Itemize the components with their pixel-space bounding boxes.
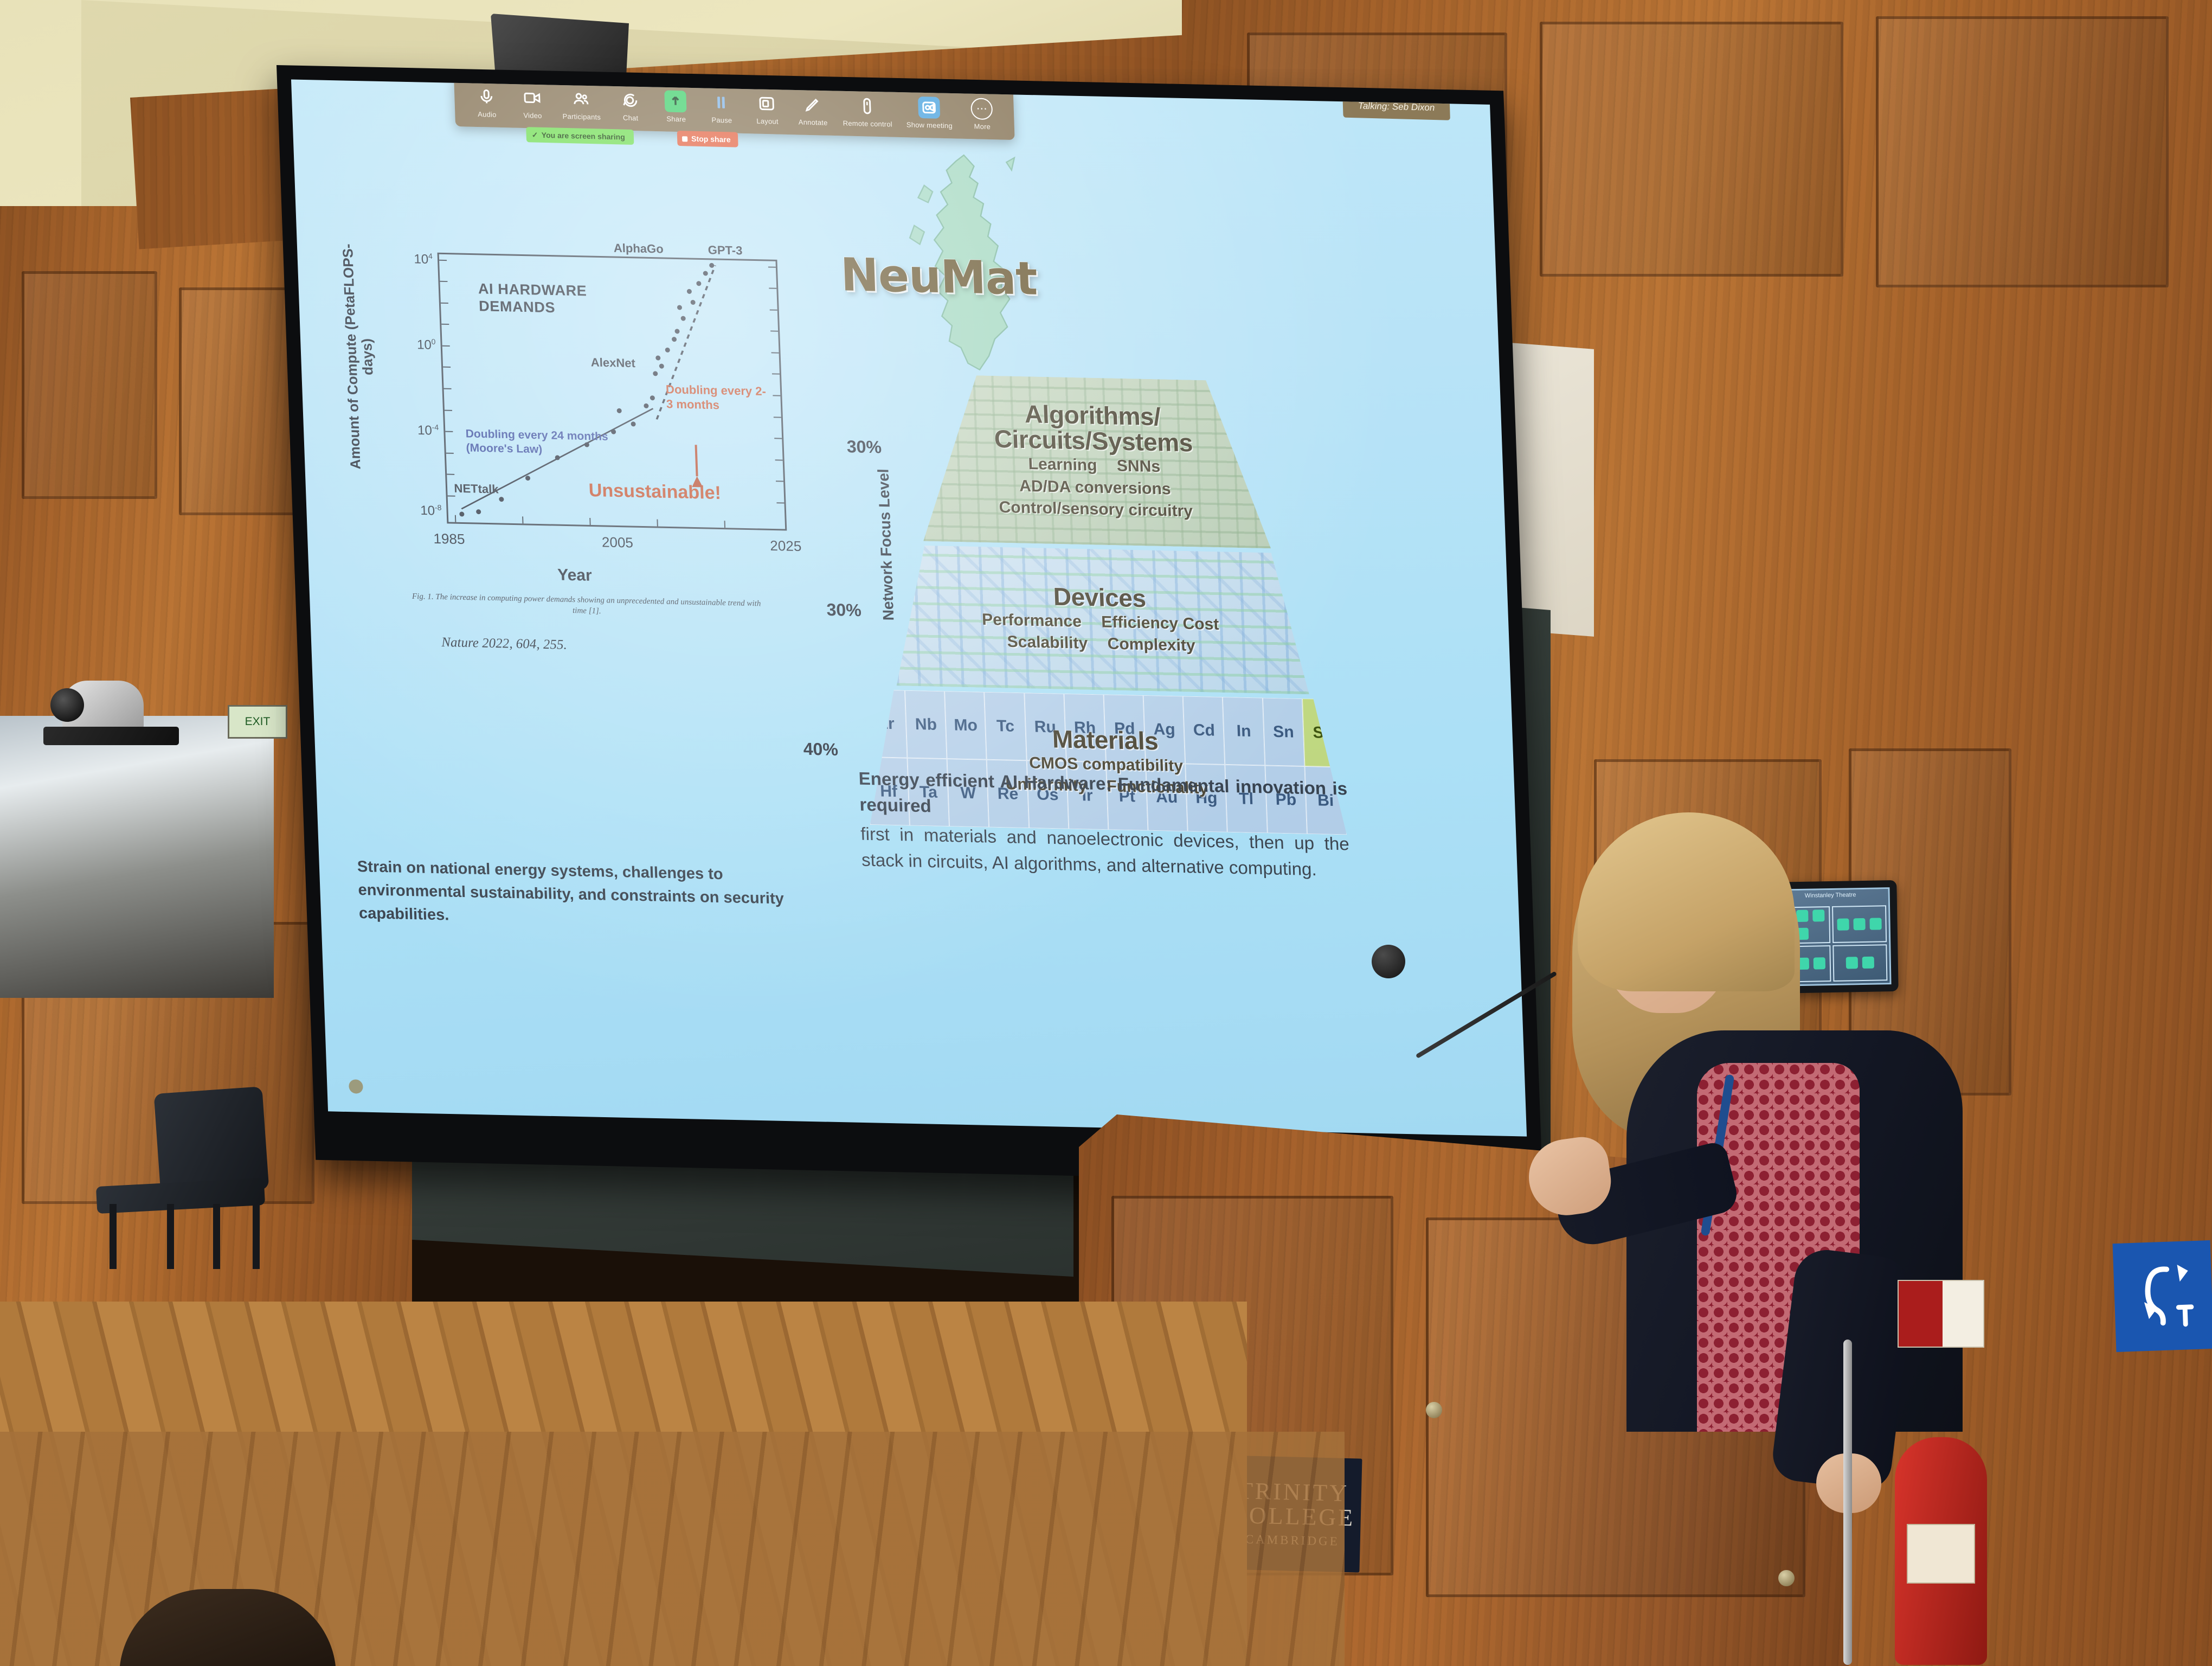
slide-corner-marker	[349, 1079, 363, 1094]
pyramid-percent-materials: 40%	[803, 739, 838, 760]
toolbar-show-meeting-button[interactable]: Show meeting	[905, 96, 953, 130]
doorway-left	[0, 716, 274, 998]
extinguisher-bracket	[1843, 1340, 1963, 1665]
chart-annotation-nettalk: NETtalk	[454, 481, 499, 496]
chart-y-axis-label: Amount of Compute (PetaFLOPS-days)	[340, 242, 380, 471]
chart-annotation-gpt3: GPT-3	[708, 243, 743, 258]
lecture-theatre-photo: EXIT rld as it shou urrents in powerful …	[0, 0, 2212, 1666]
slide-left-paragraph: Strain on national energy systems, chall…	[357, 855, 815, 934]
tier-algorithms-item-snns: SNNs	[1116, 457, 1160, 476]
tier-algorithms-item-adda: AD/DA conversions	[1019, 477, 1172, 498]
ai-hardware-demands-chart: Amount of Compute (PetaFLOPS-days) AI HA…	[329, 232, 830, 589]
toolbar-audio-button[interactable]: Audio	[471, 86, 503, 119]
pyramid-percent-algorithms: 30%	[846, 437, 882, 457]
lectern-knob	[1426, 1402, 1442, 1418]
toolbar-pause-label: Pause	[711, 116, 732, 125]
toolbar-annotate-label: Annotate	[799, 118, 828, 126]
tier-devices-item-performance: Performance	[982, 611, 1082, 631]
chart-annotation-moores-law: Doubling every 24 months (Moore's Law)	[465, 427, 629, 459]
tier-materials-heading: Materials	[1052, 726, 1159, 754]
toolbar-pause-button[interactable]: Pause	[705, 91, 738, 124]
camera-icon	[521, 87, 543, 109]
pen-icon	[801, 94, 824, 116]
microphone-icon	[475, 86, 498, 108]
screen-sharing-badge: You are screen sharing	[526, 127, 634, 145]
presenter	[1534, 781, 1946, 1432]
toolbar-video-label: Video	[523, 111, 542, 120]
video-conference-toolbar[interactable]: Audio Video Participants	[454, 80, 1015, 140]
participants-icon	[570, 88, 592, 110]
hearing-loop-sign	[2113, 1240, 2212, 1352]
pyramid-axis-label: Network Focus Level	[873, 431, 899, 658]
chart-annotation-doubling: Doubling every 2-3 months	[666, 382, 770, 414]
tier-devices-item-complexity: Complexity	[1107, 635, 1195, 655]
lectern-knob	[1778, 1570, 1795, 1586]
reference-citation: Nature 2022, 604, 255.	[441, 635, 567, 653]
chart-ytick-2: 10-4	[417, 422, 439, 439]
tier-devices-item-scalability: Scalability	[1007, 633, 1088, 652]
pyramid-percent-devices: 30%	[826, 600, 861, 620]
fire-extinguisher-sign	[1898, 1280, 1984, 1348]
projection-screen: Audio Video Participants	[276, 65, 1542, 1186]
chart-arrow-icon	[691, 476, 703, 487]
toolbar-audio-label: Audio	[478, 110, 497, 119]
toolbar-participants-label: Participants	[562, 112, 601, 121]
toolbar-video-button[interactable]: Video	[516, 87, 549, 120]
chart-ytick-1: 100	[417, 337, 436, 353]
chart-ytick-3: 10-8	[420, 503, 442, 519]
tier-algorithms-item-learning: Learning	[1028, 455, 1097, 475]
chart-ytick-0: 104	[414, 251, 433, 267]
hearing-loop-icon	[2130, 1260, 2197, 1332]
more-dots-icon: ⋯	[970, 98, 993, 120]
presenter-hair-front	[1578, 812, 1795, 991]
layout-icon	[756, 93, 778, 115]
microphone-head-icon	[1372, 945, 1405, 978]
toolbar-layout-button[interactable]: Layout	[751, 92, 783, 125]
toolbar-share-button[interactable]: Share	[660, 90, 692, 123]
chart-xtick-1: 2005	[601, 534, 633, 551]
screen-frame: Audio Video Participants	[276, 65, 1542, 1186]
chart-annotation-alexnet: AlexNet	[590, 356, 635, 371]
toolbar-chat-label: Chat	[623, 114, 639, 123]
chart-xtick-0: 1985	[433, 530, 465, 548]
slide-right-paragraph: Energy efficient AI Hardware: Fundamenta…	[858, 766, 1351, 883]
toolbar-layout-label: Layout	[756, 117, 779, 126]
presentation-slide: NeuMat Amount of Compute (PetaFLOPS-days…	[291, 80, 1527, 1137]
figure-caption: Fig. 1. The increase in computing power …	[407, 591, 766, 620]
share-screen-icon	[665, 90, 687, 112]
screen-surface: Audio Video Participants	[291, 80, 1527, 1137]
chat-icon	[619, 89, 641, 111]
chart-plot-area: AI HARDWAREDEMANDS 104 100 10-4 10-8	[438, 253, 787, 531]
stop-share-button[interactable]: Stop share	[677, 131, 738, 148]
remote-control-icon	[856, 95, 878, 117]
pyramid-tier-devices: Devices Performance Efficiency Cost Scal…	[891, 545, 1309, 695]
pyramid-tier-algorithms: Algorithms/ Circuits/Systems Learning SN…	[917, 374, 1271, 548]
pause-icon	[710, 92, 732, 114]
chart-x-axis-label: Year	[557, 566, 593, 585]
toolbar-remote-control-label: Remote control	[843, 119, 892, 128]
tier-algorithms-heading-2: Circuits/Systems	[994, 425, 1193, 457]
tier-devices-item-efficiency-cost: Efficiency Cost	[1101, 613, 1219, 633]
project-title: NeuMat	[840, 248, 1038, 305]
slide-right-lead: Energy efficient AI Hardware: Fundamenta…	[858, 766, 1349, 828]
show-meeting-icon	[918, 97, 940, 119]
tier-devices-heading: Devices	[1053, 584, 1146, 611]
chart-annotation-alphago: AlphaGo	[613, 241, 664, 257]
exit-sign: EXIT	[228, 705, 287, 739]
talking-indicator: Talking: Seb Dixon	[1342, 94, 1450, 120]
toolbar-chat-button[interactable]: Chat	[614, 89, 646, 122]
toolbar-annotate-button[interactable]: Annotate	[796, 93, 829, 126]
slide-right-body: first in materials and nanoelectronic de…	[860, 821, 1351, 883]
tier-algorithms-item-control: Control/sensory circuitry	[999, 498, 1193, 520]
toolbar-show-meeting-label: Show meeting	[906, 120, 953, 130]
toolbar-participants-button[interactable]: Participants	[562, 88, 601, 121]
stacked-chair	[97, 1090, 265, 1253]
toolbar-share-label: Share	[666, 115, 686, 124]
toolbar-remote-control-button[interactable]: Remote control	[842, 94, 892, 128]
camera-shelf	[43, 727, 179, 745]
toolbar-more-label: More	[974, 122, 991, 131]
ptz-camera	[62, 681, 144, 732]
toolbar-more-button[interactable]: ⋯ More	[966, 98, 998, 131]
